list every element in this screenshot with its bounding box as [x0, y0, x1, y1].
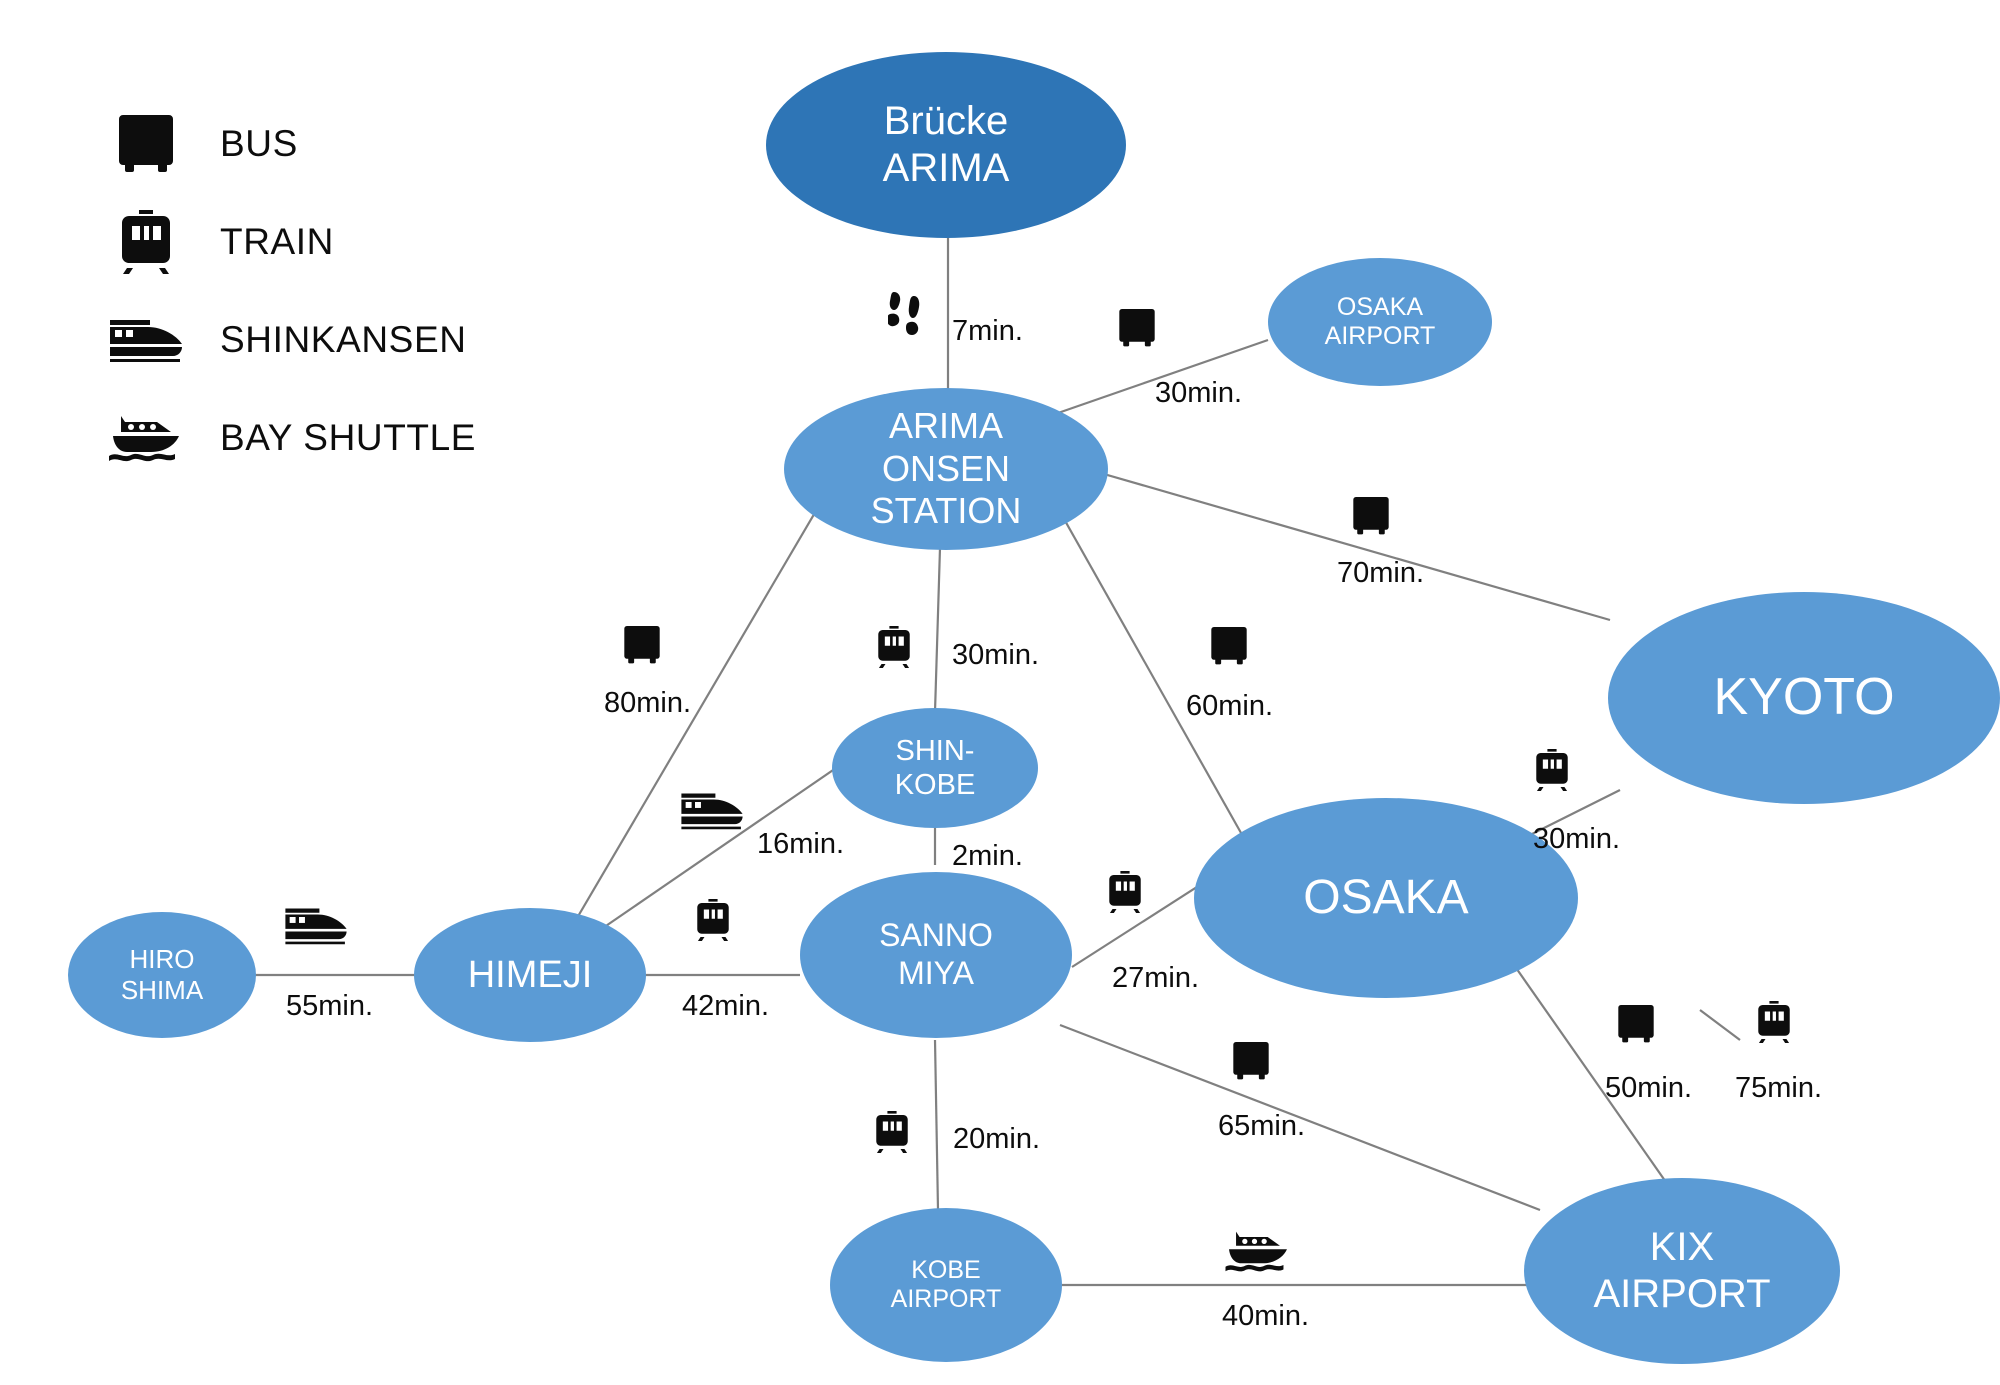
legend-item-train: TRAIN [100, 193, 476, 291]
legend-label-shinkansen: SHINKANSEN [220, 319, 467, 361]
edge-label-sannomiya--osaka: 27min. [1112, 962, 1199, 995]
edge-line-sannomiya--kobe-airport [935, 1040, 938, 1210]
shinkansen-icon [100, 316, 192, 364]
edge-label-osaka--kyoto: 30min. [1533, 823, 1620, 856]
edge-label-arima-onsen-station--kyoto: 70min. [1337, 557, 1424, 590]
edge-label-himeji--sannomiya: 42min. [682, 990, 769, 1023]
edge-label-sannomiya--kix-airport: 65min. [1218, 1110, 1305, 1143]
edge-line-arima-onsen-station--kyoto [1090, 470, 1610, 620]
edge-label-arima-onsen-station--himeji: 80min. [604, 687, 691, 720]
node-kobe-airport[interactable]: KOBE AIRPORT [830, 1208, 1062, 1362]
train-icon [1533, 748, 1571, 792]
train-icon [1755, 1000, 1793, 1044]
train-icon [875, 625, 913, 669]
legend-label-train: TRAIN [220, 221, 334, 263]
node-kyoto[interactable]: KYOTO [1608, 592, 2000, 804]
bus-icon [1118, 307, 1156, 349]
edge-label-hiroshima--himeji: 55min. [286, 990, 373, 1023]
node-arima-onsen-station[interactable]: ARIMA ONSEN STATION [784, 388, 1108, 550]
node-osaka-airport[interactable]: OSAKA AIRPORT [1268, 258, 1492, 386]
node-himeji[interactable]: HIMEJI [414, 908, 646, 1042]
walk-icon [888, 290, 924, 348]
bus-icon [1232, 1040, 1270, 1082]
legend-label-bus: BUS [220, 123, 298, 165]
train-icon [694, 898, 732, 942]
bus-icon [1210, 625, 1248, 667]
shinkansen-icon [282, 905, 350, 946]
transit-diagram: BUS TRAIN SHINKANSEN [0, 0, 2000, 1385]
node-osaka[interactable]: OSAKA [1194, 798, 1578, 998]
edge-label-brucke-arima--arima-onsen-station: 7min. [952, 315, 1023, 348]
edge-label-himeji--shin-kobe: 16min. [757, 828, 844, 861]
train-icon [100, 210, 192, 274]
bus-icon [1352, 495, 1390, 537]
edge-line-osaka--kix-airport [1500, 945, 1668, 1185]
bay-shuttle-icon [1222, 1228, 1294, 1274]
edge-label-arima-onsen-station--osaka: 60min. [1186, 690, 1273, 723]
shinkansen-icon [678, 790, 746, 831]
bus-icon [623, 624, 661, 666]
legend-item-bay-shuttle: BAY SHUTTLE [100, 389, 476, 487]
legend: BUS TRAIN SHINKANSEN [100, 95, 476, 487]
edge-label-shin-kobe--sannomiya: 2min. [952, 840, 1023, 873]
legend-item-shinkansen: SHINKANSEN [100, 291, 476, 389]
node-hiroshima[interactable]: HIRO SHIMA [68, 912, 256, 1038]
edge-label-osaka--kix-airport-train: 75min. [1735, 1072, 1822, 1105]
bay-shuttle-icon [100, 412, 192, 464]
edge-label-arima-onsen-station--osaka-airport: 30min. [1155, 377, 1242, 410]
bus-icon [1617, 1003, 1655, 1045]
edge-label-osaka--kix-airport-bus: 50min. [1605, 1072, 1692, 1105]
legend-label-bay-shuttle: BAY SHUTTLE [220, 417, 476, 459]
node-sannomiya[interactable]: SANNO MIYA [800, 872, 1072, 1038]
node-brucke-arima[interactable]: Brücke ARIMA [766, 52, 1126, 238]
node-shin-kobe[interactable]: SHIN- KOBE [832, 708, 1038, 828]
edge-label-sannomiya--kobe-airport: 20min. [953, 1123, 1040, 1156]
edge-line-arima-onsen-station--shin-kobe [935, 548, 940, 712]
edge-label-arima-onsen-station--shin-kobe: 30min. [952, 639, 1039, 672]
bus-icon [100, 113, 192, 175]
edge-label-kobe-airport--kix-airport: 40min. [1222, 1300, 1309, 1333]
edge-line-osaka--kix-airport-slash [1700, 1010, 1740, 1040]
train-icon [873, 1110, 911, 1154]
legend-item-bus: BUS [100, 95, 476, 193]
node-kix-airport[interactable]: KIX AIRPORT [1524, 1178, 1840, 1364]
train-icon [1106, 870, 1144, 914]
